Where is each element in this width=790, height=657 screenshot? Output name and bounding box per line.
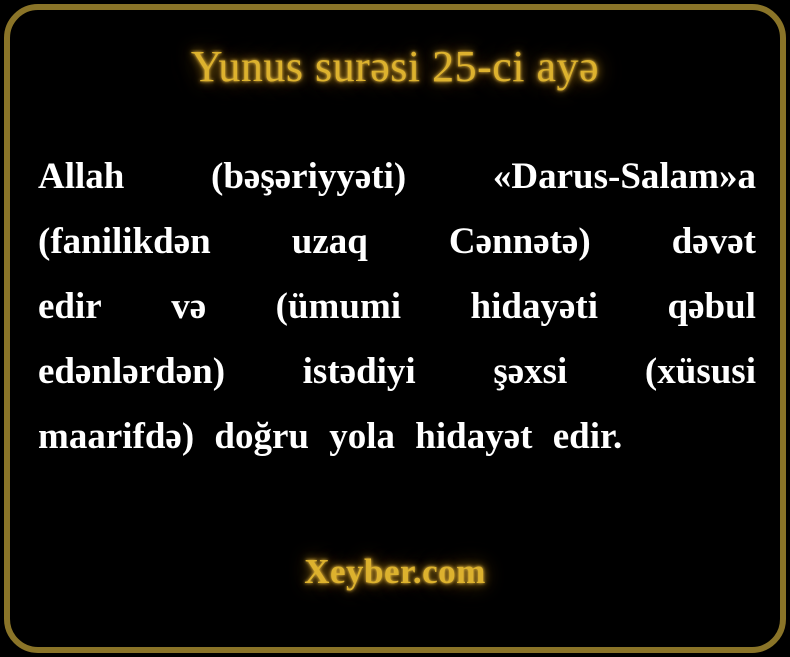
verse-word: (bəşəriyyəti) xyxy=(211,144,406,209)
site-watermark: Xeyber.com xyxy=(0,552,790,592)
verse-line: edənlərdən) istədiyi şəxsi (xüsusi xyxy=(38,339,756,404)
verse-word: maarifdə) xyxy=(38,404,194,469)
page-title: Yunus surəsi 25-ci ayə xyxy=(34,0,756,90)
verse-word: (fanilikdən xyxy=(38,209,211,274)
verse-word: və xyxy=(171,274,206,339)
verse-text-block: Allah (bəşəriyyəti) «Darus-Salam»a (fani… xyxy=(38,144,756,469)
verse-word: (xüsusi xyxy=(645,339,756,404)
verse-word: edir. xyxy=(553,404,623,469)
verse-word: Cənnətə) xyxy=(449,209,591,274)
verse-word: şəxsi xyxy=(493,339,567,404)
verse-word: dəvət xyxy=(672,209,756,274)
verse-word: uzaq xyxy=(292,209,368,274)
verse-line: maarifdə) doğru yola hidayət edir. xyxy=(38,404,756,469)
verse-card: Yunus surəsi 25-ci ayə Allah (bəşəriyyət… xyxy=(0,0,790,657)
verse-word: «Darus-Salam»a xyxy=(493,144,756,209)
verse-word: yola xyxy=(329,404,395,469)
verse-line: (fanilikdən uzaq Cənnətə) dəvət xyxy=(38,209,756,274)
card-content: Yunus surəsi 25-ci ayə Allah (bəşəriyyət… xyxy=(0,0,790,657)
verse-line: Allah (bəşəriyyəti) «Darus-Salam»a xyxy=(38,144,756,209)
verse-word: qəbul xyxy=(668,274,756,339)
verse-word: (ümumi xyxy=(276,274,401,339)
verse-line: edir və (ümumi hidayəti qəbul xyxy=(38,274,756,339)
verse-word: edir xyxy=(38,274,102,339)
verse-word: istədiyi xyxy=(303,339,416,404)
verse-word: hidayəti xyxy=(471,274,598,339)
verse-word: edənlərdən) xyxy=(38,339,225,404)
verse-word: doğru xyxy=(214,404,309,469)
verse-word: Allah xyxy=(38,144,124,209)
verse-word: hidayət xyxy=(415,404,532,469)
